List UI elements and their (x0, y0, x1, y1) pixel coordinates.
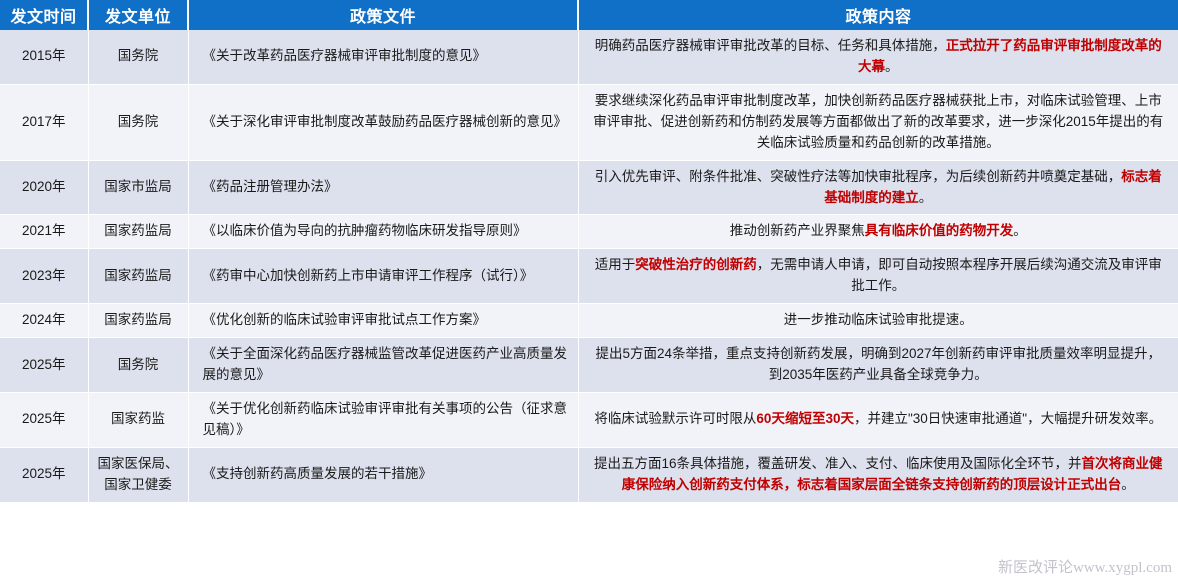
table-row: 2023年国家药监局《药审中心加快创新药上市申请审评工作程序（试行）》适用于突破… (0, 249, 1178, 304)
table-header-row: 发文时间 发文单位 政策文件 政策内容 (0, 0, 1178, 30)
cell-date: 2021年 (0, 215, 88, 249)
cell-unit: 国家药监局 (88, 304, 188, 338)
cell-unit: 国家医保局、国家卫健委 (88, 447, 188, 502)
content-text: ，无需申请人申请，即可自动按照本程序开展后续沟通交流及审评审批工作。 (757, 257, 1162, 293)
content-text: 。 (1121, 477, 1135, 492)
column-header-document: 政策文件 (188, 0, 578, 30)
document-title: 《关于优化创新药临床试验审评审批有关事项的公告（征求意见稿）》 (203, 401, 568, 437)
table-row: 2015年国务院《关于改革药品医疗器械审评审批制度的意见》明确药品医疗器械审评审… (0, 30, 1178, 84)
cell-unit: 国务院 (88, 338, 188, 393)
cell-unit: 国务院 (88, 84, 188, 160)
policy-timeline-table: 发文时间 发文单位 政策文件 政策内容 2015年国务院《关于改革药品医疗器械审… (0, 0, 1178, 503)
cell-date: 2025年 (0, 392, 88, 447)
policy-table-container: 发文时间 发文单位 政策文件 政策内容 2015年国务院《关于改革药品医疗器械审… (0, 0, 1178, 579)
table-row: 2020年国家市监局《药品注册管理办法》引入优先审评、附条件批准、突破性疗法等加… (0, 160, 1178, 215)
cell-content: 推动创新药产业界聚焦具有临床价值的药物开发。 (578, 215, 1178, 249)
content-text: 引入优先审评、附条件批准、突破性疗法等加快审批程序，为后续创新药井喷奠定基础， (595, 169, 1122, 184)
cell-document: 《关于全面深化药品医疗器械监管改革促进医药产业高质量发展的意见》 (188, 338, 578, 393)
cell-date: 2025年 (0, 338, 88, 393)
document-title: 《以临床价值为导向的抗肿瘤药物临床研发指导原则》 (203, 223, 527, 238)
cell-content: 提出五方面16条具体措施，覆盖研发、准入、支付、临床使用及国际化全环节，并首次将… (578, 447, 1178, 502)
cell-content: 将临床试验默示许可时限从60天缩短至30天，并建立"30日快速审批通道"，大幅提… (578, 392, 1178, 447)
cell-document: 《关于优化创新药临床试验审评审批有关事项的公告（征求意见稿）》 (188, 392, 578, 447)
cell-document: 《药审中心加快创新药上市申请审评工作程序（试行）》 (188, 249, 578, 304)
document-title: 《药审中心加快创新药上市申请审评工作程序（试行）》 (203, 268, 534, 283)
cell-date: 2024年 (0, 304, 88, 338)
table-row: 2021年国家药监局《以临床价值为导向的抗肿瘤药物临床研发指导原则》推动创新药产… (0, 215, 1178, 249)
cell-unit: 国家药监 (88, 392, 188, 447)
cell-date: 2017年 (0, 84, 88, 160)
content-text: 。 (919, 190, 933, 205)
cell-document: 《关于深化审评审批制度改革鼓励药品医疗器械创新的意见》 (188, 84, 578, 160)
content-highlight: 突破性治疗的创新药 (635, 257, 757, 272)
cell-document: 《优化创新的临床试验审评审批试点工作方案》 (188, 304, 578, 338)
document-title: 《关于改革药品医疗器械审评审批制度的意见》 (203, 48, 487, 63)
document-title: 《药品注册管理办法》 (203, 179, 338, 194)
content-text: 明确药品医疗器械审评审批改革的目标、任务和具体措施， (595, 38, 946, 53)
cell-content: 提出5方面24条举措，重点支持创新药发展，明确到2027年创新药审评审批质量效率… (578, 338, 1178, 393)
cell-document: 《以临床价值为导向的抗肿瘤药物临床研发指导原则》 (188, 215, 578, 249)
watermark-url: www.xygpl.com (1073, 560, 1172, 576)
cell-content: 明确药品医疗器械审评审批改革的目标、任务和具体措施，正式拉开了药品审评审批制度改… (578, 30, 1178, 84)
cell-date: 2015年 (0, 30, 88, 84)
table-row: 2024年国家药监局《优化创新的临床试验审评审批试点工作方案》进一步推动临床试验… (0, 304, 1178, 338)
watermark-site-name: 新医改评论 (998, 559, 1073, 576)
content-text: ，并建立"30日快速审批通道"，大幅提升研发效率。 (854, 411, 1162, 426)
watermark: 新医改评论www.xygpl.com (998, 556, 1172, 577)
cell-unit: 国家药监局 (88, 215, 188, 249)
document-title: 《关于全面深化药品医疗器械监管改革促进医药产业高质量发展的意见》 (203, 346, 568, 382)
content-highlight: 具有临床价值的药物开发 (865, 223, 1014, 238)
cell-date: 2025年 (0, 447, 88, 502)
content-text: 提出5方面24条举措，重点支持创新药发展，明确到2027年创新药审评审批质量效率… (595, 346, 1161, 382)
content-text: 。 (1013, 223, 1027, 238)
table-header: 发文时间 发文单位 政策文件 政策内容 (0, 0, 1178, 30)
table-row: 2025年国家医保局、国家卫健委《支持创新药高质量发展的若干措施》提出五方面16… (0, 447, 1178, 502)
cell-date: 2023年 (0, 249, 88, 304)
table-body: 2015年国务院《关于改革药品医疗器械审评审批制度的意见》明确药品医疗器械审评审… (0, 30, 1178, 502)
cell-document: 《药品注册管理办法》 (188, 160, 578, 215)
content-text: 进一步推动临床试验审批提速。 (784, 312, 973, 327)
document-title: 《关于深化审评审批制度改革鼓励药品医疗器械创新的意见》 (203, 114, 568, 129)
cell-content: 进一步推动临床试验审批提速。 (578, 304, 1178, 338)
content-text: 。 (885, 59, 899, 74)
cell-date: 2020年 (0, 160, 88, 215)
column-header-unit: 发文单位 (88, 0, 188, 30)
cell-unit: 国务院 (88, 30, 188, 84)
content-text: 要求继续深化药品审评审批制度改革，加快创新药品医疗器械获批上市，对临床试验管理、… (593, 93, 1163, 150)
cell-document: 《关于改革药品医疗器械审评审批制度的意见》 (188, 30, 578, 84)
cell-unit: 国家市监局 (88, 160, 188, 215)
table-row: 2025年国家药监《关于优化创新药临床试验审评审批有关事项的公告（征求意见稿）》… (0, 392, 1178, 447)
cell-document: 《支持创新药高质量发展的若干措施》 (188, 447, 578, 502)
cell-unit: 国家药监局 (88, 249, 188, 304)
cell-content: 要求继续深化药品审评审批制度改革，加快创新药品医疗器械获批上市，对临床试验管理、… (578, 84, 1178, 160)
table-row: 2017年国务院《关于深化审评审批制度改革鼓励药品医疗器械创新的意见》要求继续深… (0, 84, 1178, 160)
content-text: 将临床试验默示许可时限从 (594, 411, 756, 426)
document-title: 《支持创新药高质量发展的若干措施》 (203, 466, 433, 481)
content-text: 适用于 (595, 257, 636, 272)
cell-content: 适用于突破性治疗的创新药，无需申请人申请，即可自动按照本程序开展后续沟通交流及审… (578, 249, 1178, 304)
column-header-content: 政策内容 (578, 0, 1178, 30)
document-title: 《优化创新的临床试验审评审批试点工作方案》 (203, 312, 487, 327)
table-row: 2025年国务院《关于全面深化药品医疗器械监管改革促进医药产业高质量发展的意见》… (0, 338, 1178, 393)
content-highlight: 60天缩短至30天 (756, 411, 854, 426)
cell-content: 引入优先审评、附条件批准、突破性疗法等加快审批程序，为后续创新药井喷奠定基础，标… (578, 160, 1178, 215)
content-text: 推动创新药产业界聚焦 (730, 223, 865, 238)
content-text: 提出五方面16条具体措施，覆盖研发、准入、支付、临床使用及国际化全环节，并 (594, 456, 1082, 471)
column-header-date: 发文时间 (0, 0, 88, 30)
